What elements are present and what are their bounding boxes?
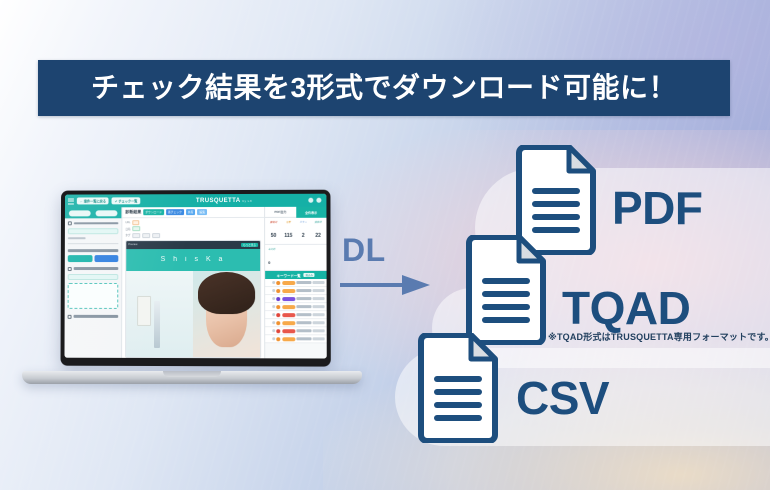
app-left-panel [64, 207, 122, 358]
product-package [137, 296, 152, 325]
laptop-base [22, 371, 362, 384]
section-url-label [74, 222, 119, 225]
model-hair [198, 272, 254, 314]
severity-badge [282, 281, 295, 285]
section-file-label [74, 267, 119, 270]
right-panel-tabs: PDF出力 全件表示 [265, 207, 326, 218]
meta-url-label: URL [125, 221, 130, 224]
stat-unhandled: 未対応 0 [265, 245, 326, 271]
share-chip[interactable]: 共有 [186, 209, 196, 215]
meta-tag-row: タグ [122, 231, 264, 238]
keyword-text [296, 338, 311, 340]
product-bottle [154, 301, 160, 349]
keyword-meta [312, 297, 324, 299]
section-file-check [65, 264, 122, 272]
laptop-mockup: ← 案件一覧に戻る ✔ チェック一覧 TRUSQUETTAby LX [22, 190, 362, 390]
keyword-row[interactable] [265, 303, 326, 311]
app-brand-name: TRUSQUETTA [196, 197, 241, 203]
back-to-list-button[interactable]: ← 案件一覧に戻る [77, 197, 109, 204]
keyword-row[interactable] [265, 279, 326, 287]
preview-body [126, 270, 260, 357]
url-input[interactable] [68, 237, 119, 244]
keyword-meta [313, 330, 325, 332]
file-check-description [68, 274, 119, 280]
star-icon[interactable] [272, 289, 275, 292]
format-label-tqad: TQAD [562, 285, 690, 331]
severity-badge [282, 329, 295, 333]
severity-badge [282, 313, 295, 317]
keyword-row[interactable] [265, 327, 327, 335]
file-icon [68, 267, 72, 271]
stat-error: エラー 2 [296, 220, 311, 242]
keyword-list [265, 279, 327, 343]
keyword-meta [313, 322, 325, 324]
app-center-panel: 診断結果 ダウンロード 再チェック 共有 編集 URL 日時 [122, 207, 264, 358]
avatar[interactable] [316, 198, 321, 203]
star-icon[interactable] [272, 329, 275, 332]
keyword-text [296, 289, 311, 291]
severity-dot-icon [276, 281, 280, 285]
preview-title: Preview [128, 243, 137, 246]
stat-review: 要確認 50 [266, 220, 281, 242]
star-icon[interactable] [272, 321, 275, 324]
start-check-button[interactable] [68, 255, 92, 262]
preview-model-area [193, 270, 260, 357]
preview-bar: Preview もっと見る [126, 240, 260, 248]
meta-tag-3 [152, 233, 160, 238]
star-icon[interactable] [272, 297, 275, 300]
tab-custom[interactable] [95, 210, 117, 216]
headline-text: チェック結果を3形式でダウンロード可能に！ [91, 74, 677, 102]
edit-chip[interactable]: 編集 [197, 209, 207, 215]
left-panel-tabs [65, 207, 121, 218]
tab-quick[interactable] [69, 210, 91, 216]
tqad-format-note: ※TQAD形式はTRUSQUETTA専用フォーマットです。 [548, 330, 770, 343]
url-check-description [68, 228, 119, 234]
keyword-icon [68, 314, 72, 318]
app-brand: TRUSQUETTAby LX [143, 197, 305, 203]
meta-date-label: 日時 [125, 227, 130, 231]
laptop-screen: ← 案件一覧に戻る ✔ チェック一覧 TRUSQUETTAby LX [64, 194, 326, 359]
app-topbar: ← 案件一覧に戻る ✔ チェック一覧 TRUSQUETTAby LX [65, 194, 326, 208]
severity-dot-icon [276, 321, 280, 325]
star-icon[interactable] [272, 337, 275, 340]
keyword-row[interactable] [265, 295, 326, 303]
section-keyword-label [74, 315, 119, 318]
meta-tag-2 [142, 233, 149, 238]
format-label-pdf: PDF [612, 185, 703, 231]
star-icon[interactable] [272, 305, 275, 308]
file-dropzone[interactable] [68, 283, 119, 309]
preview-product-area [126, 271, 193, 358]
keyword-list-header: キーワード一覧 絞込み [265, 271, 326, 279]
stats-row: 要確認 50 注意 115 エラー 2 指摘済 [265, 218, 326, 245]
severity-dot-icon [276, 297, 280, 301]
severity-dot-icon [276, 329, 280, 333]
app-brand-sub: by LX [243, 198, 253, 202]
severity-badge [282, 305, 295, 309]
meta-tag-1 [132, 233, 140, 238]
section-keyword-check [65, 311, 122, 319]
headline-banner: チェック結果を3形式でダウンロード可能に！ [38, 60, 730, 116]
keyword-filter-button[interactable]: 絞込み [304, 273, 315, 277]
preview-cta-button[interactable]: もっと見る [241, 242, 258, 246]
severity-dot-icon [276, 289, 280, 293]
severity-badge [282, 337, 295, 341]
result-title: 診断結果 [125, 209, 141, 215]
keyword-text [296, 297, 311, 299]
right-arrow-icon [340, 272, 432, 298]
keyword-meta [313, 306, 325, 308]
download-chip[interactable]: ダウンロード [143, 209, 164, 215]
preview-hero-text: S h i s K a [161, 256, 226, 263]
keyword-meta [312, 281, 324, 283]
app-topbar-right [308, 198, 323, 203]
keyword-text [296, 322, 311, 324]
meta-tag-label: タグ [125, 233, 130, 237]
laptop-notch [163, 371, 221, 377]
keyword-meta [313, 338, 325, 340]
recheck-chip[interactable]: 再チェック [166, 209, 184, 215]
laptop-lid: ← 案件一覧に戻る ✔ チェック一覧 TRUSQUETTAby LX [61, 190, 331, 367]
tab-show-all[interactable]: 全件表示 [296, 207, 327, 218]
keyword-row[interactable] [265, 319, 327, 327]
severity-dot-icon [276, 305, 280, 309]
app-right-panel: PDF出力 全件表示 要確認 50 注意 115 エラー [264, 207, 327, 359]
keyword-row[interactable] [265, 335, 327, 343]
keyword-list-title: キーワード一覧 [277, 272, 301, 277]
keyword-meta [312, 289, 324, 291]
severity-badge [282, 289, 295, 293]
document-icon-csv[interactable] [415, 333, 501, 443]
severity-dot-icon [276, 313, 280, 317]
keyword-text [296, 281, 311, 283]
keyword-text [296, 314, 311, 316]
left-action-buttons [68, 255, 119, 262]
preview-hero: S h i s K a [126, 248, 260, 270]
severity-badge [282, 321, 295, 325]
check-list-button[interactable]: ✔ チェック一覧 [112, 197, 140, 204]
stat-caution: 注意 115 [281, 220, 296, 242]
document-icon-tqad[interactable] [463, 235, 549, 345]
keyword-text [296, 330, 311, 332]
section-url-check [65, 218, 121, 226]
keyword-row[interactable] [265, 311, 326, 319]
menu-icon[interactable] [68, 198, 74, 204]
star-icon[interactable] [272, 313, 275, 316]
severity-dot-icon [276, 337, 280, 341]
keyword-text [296, 306, 311, 308]
stat-flagged: 指摘済 22 [311, 220, 326, 242]
format-label-csv: CSV [516, 375, 609, 421]
url-icon [68, 221, 72, 225]
keyword-meta [313, 314, 325, 316]
settings-icon[interactable] [308, 198, 313, 203]
clear-button[interactable] [94, 255, 118, 262]
download-label: DL [342, 234, 386, 266]
star-icon[interactable] [272, 281, 275, 284]
severity-badge [282, 297, 295, 301]
app-body: 診断結果 ダウンロード 再チェック 共有 編集 URL 日時 [64, 207, 326, 359]
result-header: 診断結果 ダウンロード 再チェック 共有 編集 [122, 207, 264, 218]
download-indicator: DL [340, 234, 432, 302]
keyword-row[interactable] [265, 287, 326, 295]
page-preview: Preview もっと見る S h i s K a [125, 239, 261, 358]
tab-pdf-export[interactable]: PDF出力 [265, 207, 296, 218]
url-hint [65, 246, 122, 253]
